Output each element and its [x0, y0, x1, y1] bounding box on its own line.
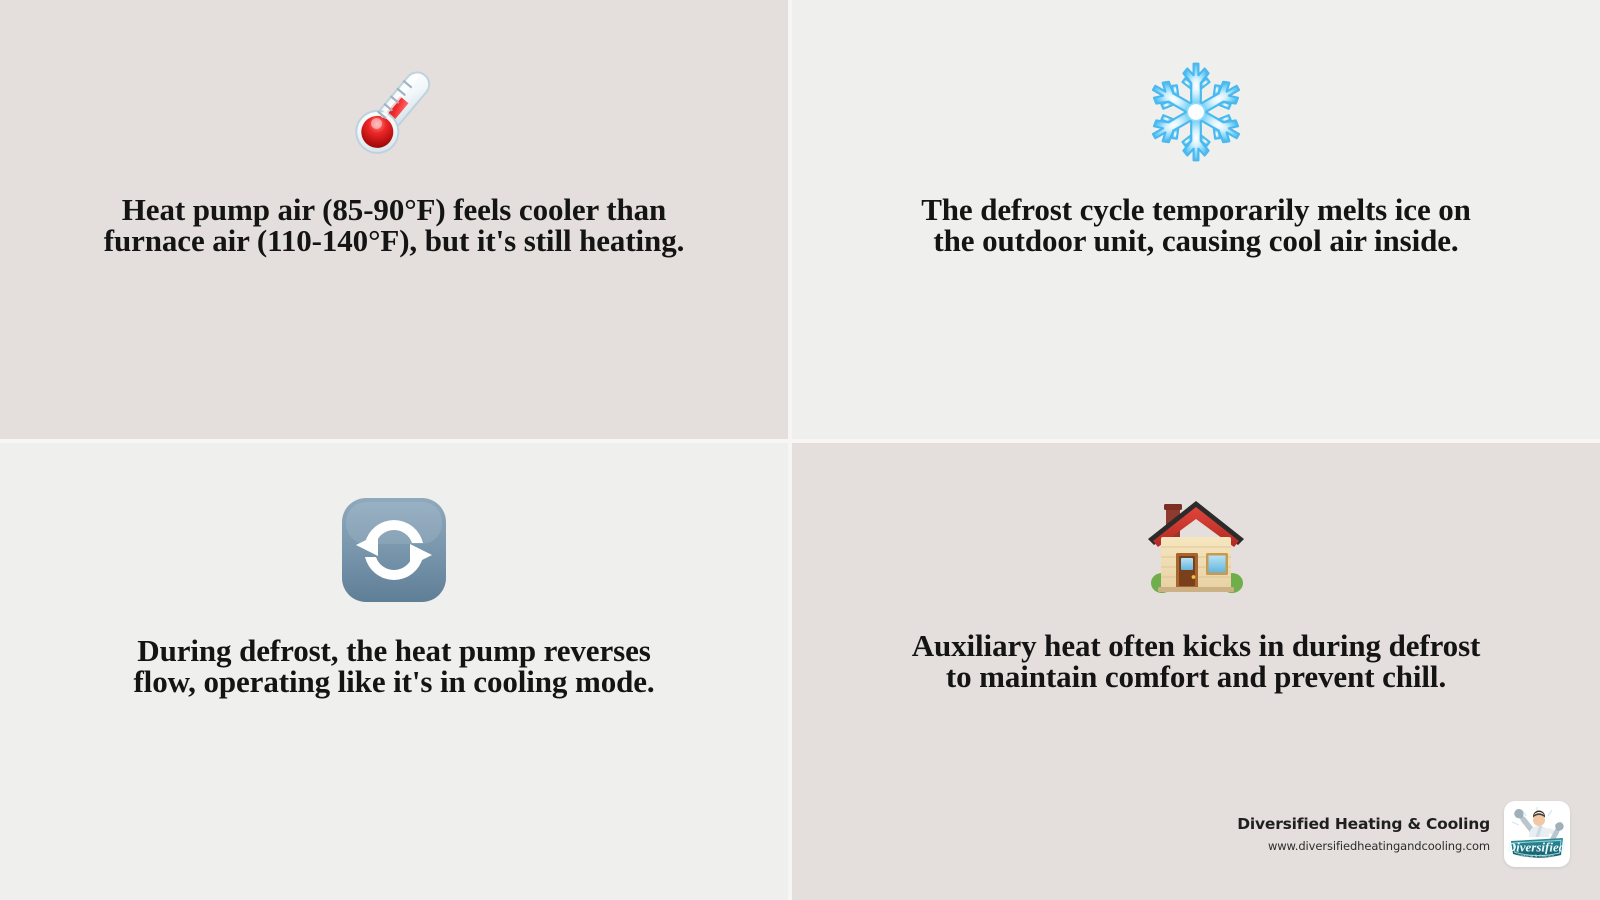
logo-sub-text: Heating & Cooling: [1518, 854, 1554, 858]
card-caption: Heat pump air (85-90°F) feels cooler tha…: [70, 194, 718, 256]
card-caption: The defrost cycle temporarily melts ice …: [887, 194, 1505, 256]
company-logo[interactable]: Diversified Heating & Cooling: [1504, 801, 1570, 867]
card-heat-pump-air-temperature: Heat pump air (85-90°F) feels cooler tha…: [0, 0, 788, 439]
infographic-root: Heat pump air (85-90°F) feels cooler tha…: [0, 0, 1600, 900]
card-reversed-flow-cooling-mode: During defrost, the heat pump reverses f…: [0, 443, 788, 900]
logo-script-text: Diversified: [1506, 840, 1566, 855]
snowflake-icon: [1136, 52, 1256, 172]
card-caption: Auxiliary heat often kicks in during def…: [887, 630, 1505, 692]
house-icon: [1136, 485, 1256, 605]
branding-text: Diversified Heating & Cooling www.divers…: [1237, 815, 1490, 853]
thermometer-icon: [334, 52, 454, 172]
card-defrost-cycle-melts-ice: The defrost cycle temporarily melts ice …: [792, 0, 1600, 439]
company-name: Diversified Heating & Cooling: [1237, 815, 1490, 833]
company-website[interactable]: www.diversifiedheatingandcooling.com: [1268, 839, 1490, 853]
branding: Diversified Heating & Cooling www.divers…: [1237, 801, 1570, 867]
counterclockwise-arrows-icon: [334, 490, 454, 610]
card-auxiliary-heat-kicks-in: Auxiliary heat often kicks in during def…: [792, 443, 1600, 900]
card-caption: During defrost, the heat pump reverses f…: [85, 635, 703, 697]
